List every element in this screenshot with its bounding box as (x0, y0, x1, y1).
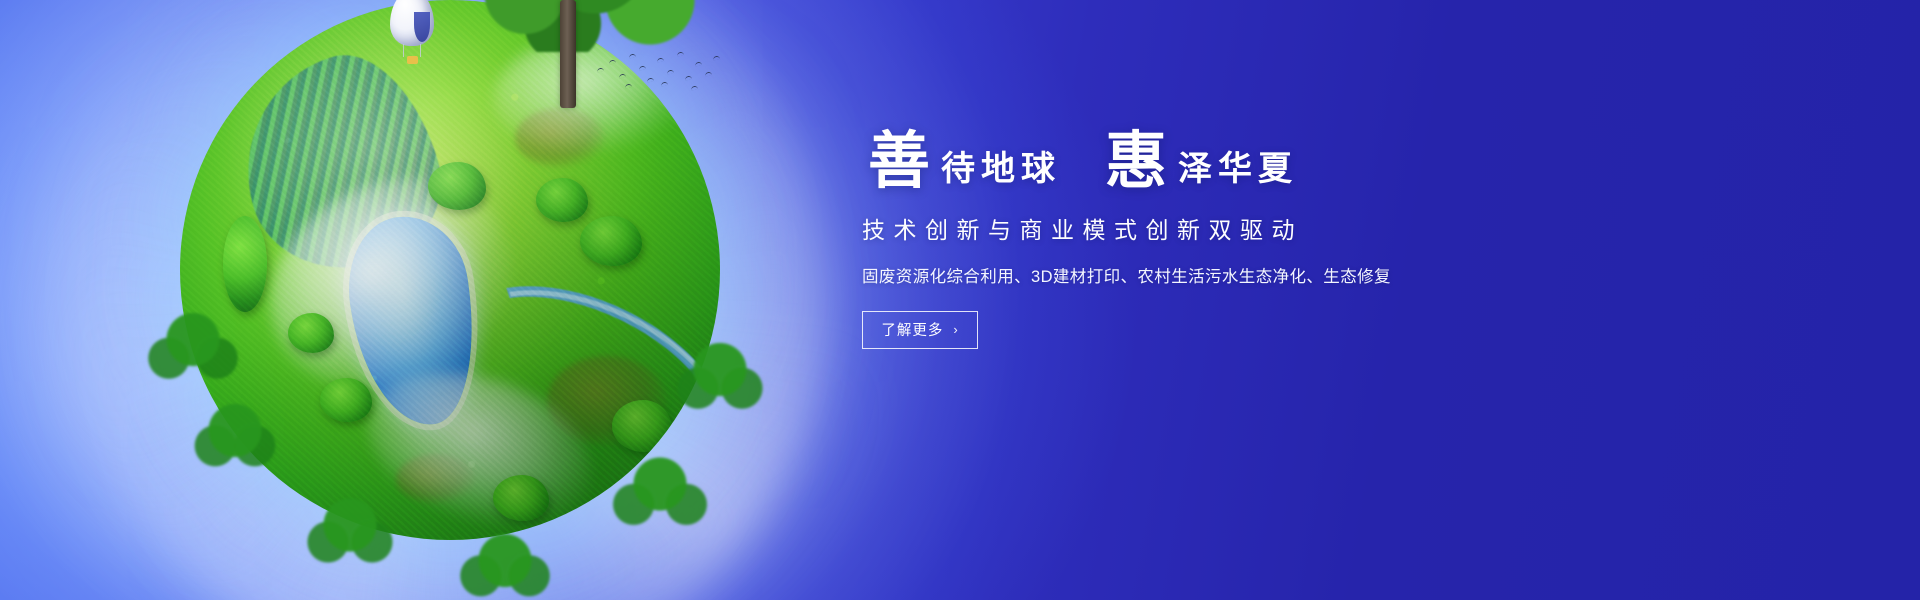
learn-more-label: 了解更多 (881, 319, 943, 340)
hero-banner: 善 待地球 惠 泽华夏 技术创新与商业模式创新双驱动 固废资源化综合利用、3D建… (0, 0, 1920, 600)
bush-shape (493, 475, 549, 521)
hero-content: 善 待地球 惠 泽华夏 技术创新与商业模式创新双驱动 固废资源化综合利用、3D建… (862, 132, 1562, 349)
edge-tree (190, 390, 280, 480)
bush-shape (580, 216, 642, 266)
tree-trunk (560, 0, 576, 108)
edge-tree (670, 320, 770, 430)
chevron-right-icon: › (953, 322, 958, 337)
hero-description: 固废资源化综合利用、3D建材打印、农村生活污水生态净化、生态修复 (862, 263, 1562, 287)
lake-shape (339, 209, 487, 434)
cloud-mist (235, 139, 547, 428)
headline-part1-big: 善 (868, 132, 931, 191)
edge-tree (600, 430, 720, 550)
headline-group-2: 惠 泽华夏 (1105, 132, 1298, 191)
bush-shape (320, 378, 372, 422)
headline-part1-small: 待地球 (931, 152, 1061, 191)
headline-group-1: 善 待地球 (868, 132, 1061, 191)
headline-part2-small: 泽华夏 (1168, 152, 1298, 191)
earth-patch (515, 108, 605, 168)
hero-subtitle: 技术创新与商业模式创新双驱动 (862, 211, 1562, 245)
balloon-basket (407, 56, 418, 64)
page-title: 善 待地球 惠 泽华夏 (868, 132, 1562, 191)
bush-shape (536, 178, 588, 222)
learn-more-button[interactable]: 了解更多 › (862, 311, 978, 349)
earth-patch (396, 454, 476, 504)
birds-flock-icon (595, 48, 725, 94)
balloon-envelope (390, 0, 434, 46)
bush-shape (288, 313, 334, 353)
bush-shape (428, 162, 486, 210)
headline-part2-big: 惠 (1105, 132, 1168, 191)
edge-tree (300, 480, 400, 580)
edge-tree (450, 520, 560, 600)
edge-tree (138, 290, 248, 400)
terraced-ridge (220, 37, 461, 291)
hot-air-balloon-icon (390, 0, 434, 68)
